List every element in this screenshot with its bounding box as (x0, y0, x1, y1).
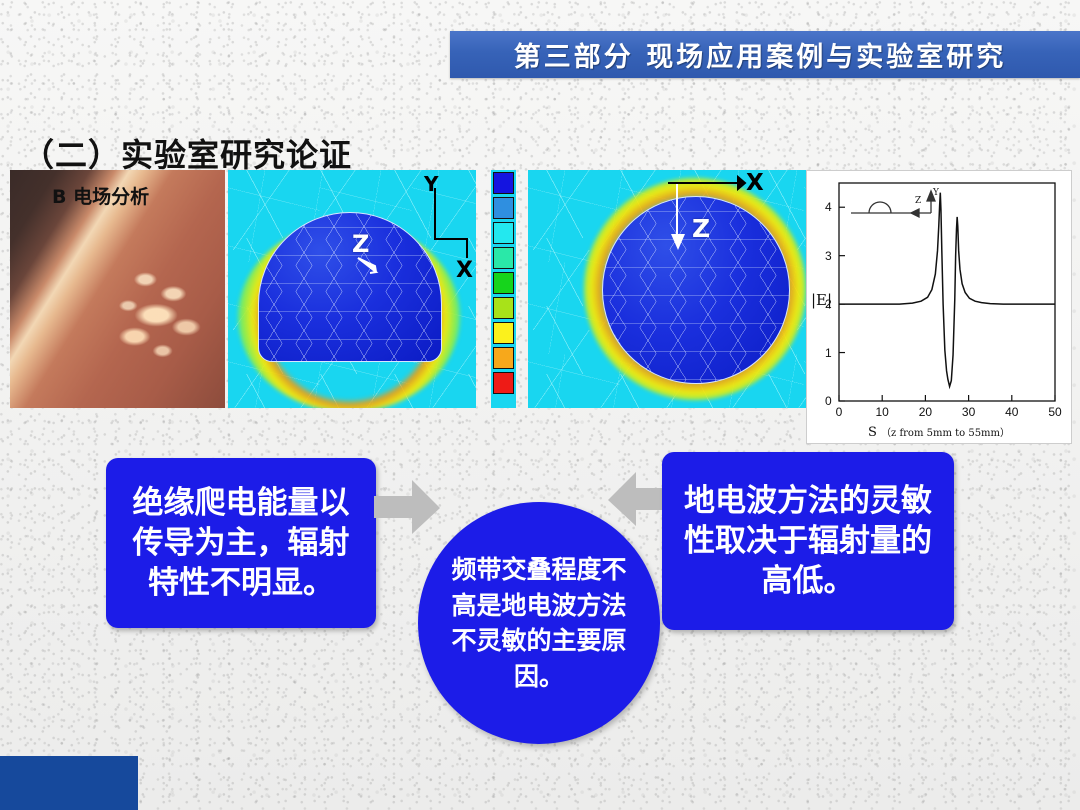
photo-caption: B 电场分析 (52, 182, 149, 209)
axis-label-z: Z (692, 214, 710, 243)
chart-y-tick-label: 3 (825, 249, 832, 263)
axis-z-arrow-icon (668, 232, 688, 254)
conclusion-box-right[interactable]: 地电波方法的灵敏性取决于辐射量的高低。 (662, 452, 954, 630)
colorbar-swatch (493, 372, 514, 394)
arrow-right-icon (372, 474, 444, 542)
fem-hemisphere-topview: X Z (528, 170, 814, 408)
chart-x-tick-label: 40 (1005, 405, 1018, 419)
fem-hemisphere-perspective: Y X Z (228, 170, 476, 408)
colorbar-swatch (493, 297, 514, 319)
axis-label-y: Y (424, 172, 438, 196)
chart-plot-area: Z Y (807, 171, 1071, 443)
slide-canvas: 第三部分 现场应用案例与实验室研究 （二）实验室研究论证 B 电场分析 Y X … (0, 0, 1080, 810)
chart-y-tick-label: 4 (825, 200, 832, 214)
chart-y-tick-label: 1 (825, 346, 832, 360)
axis-x-line-h (434, 238, 468, 240)
chart-y-tick-label: 2 (825, 297, 832, 311)
colorbar-swatch (493, 322, 514, 344)
chart-x-tick-label: 30 (962, 405, 975, 419)
axis-label-x: X (746, 170, 764, 196)
colorbar-swatch (493, 222, 514, 244)
chart-x-tick-label: 0 (836, 405, 843, 419)
field-magnitude-chart: |E| Z Y 01020304050 01234 S (806, 170, 1072, 444)
chart-x-axis-label: S （z from 5mm to 55mm） (807, 424, 1071, 440)
colorbar-swatch (493, 247, 514, 269)
svg-text:Y: Y (932, 188, 940, 198)
colorbar-swatch (493, 347, 514, 369)
header-title: 第三部分 现场应用案例与实验室研究 (450, 31, 1070, 78)
chart-y-tick-label: 0 (825, 394, 832, 408)
conclusion-circle-center[interactable]: 频带交叠程度不高是地电波方法不灵敏的主要原因。 (418, 502, 660, 744)
conclusion-box-left[interactable]: 绝缘爬电能量以传导为主，辐射特性不明显。 (106, 458, 376, 628)
chart-x-axis-note: （z from 5mm to 55mm） (881, 428, 1010, 439)
axis-x-line-v (466, 238, 468, 258)
chart-x-tick-label: 20 (919, 405, 932, 419)
colorbar-swatch (493, 172, 514, 194)
microscope-discharge-photo: B 电场分析 (10, 170, 225, 408)
axis-label-z: Z (352, 230, 369, 258)
chart-x-tick-label: 50 (1048, 405, 1061, 419)
fem-colorbar-legend (491, 170, 516, 408)
axis-label-x: X (456, 258, 473, 283)
chart-x-tick-label: 10 (876, 405, 889, 419)
footer-accent-bar (0, 756, 138, 810)
header-banner: 第三部分 现场应用案例与实验室研究 (450, 31, 1080, 78)
chart-x-axis-symbol: S (868, 425, 877, 440)
colorbar-swatch (493, 197, 514, 219)
axis-z-arrow-icon (356, 256, 386, 278)
colorbar-swatch (493, 272, 514, 294)
svg-text:Z: Z (915, 196, 921, 206)
